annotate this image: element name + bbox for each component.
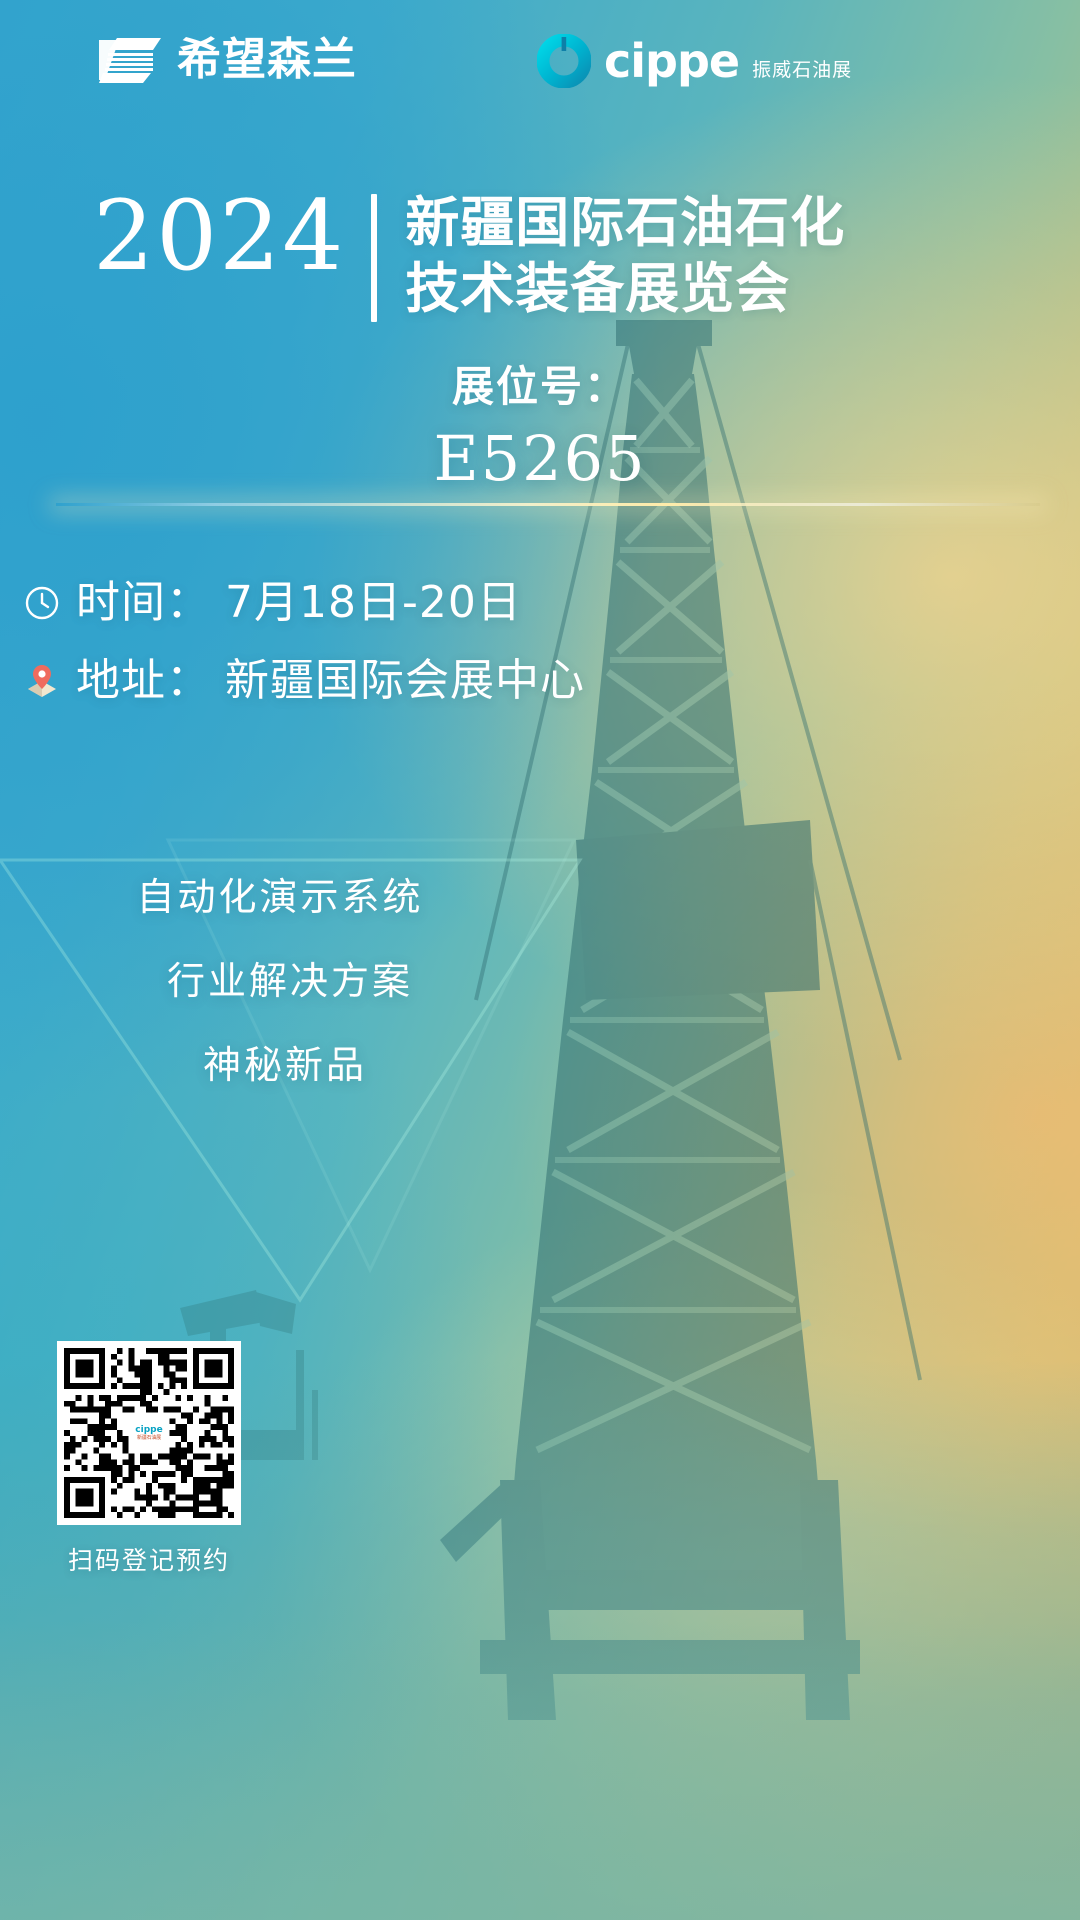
info-row-address: 地址： 新疆国际会展中心 (22, 653, 585, 709)
info-address-value: 新疆国际会展中心 (225, 653, 585, 709)
qr-code[interactable]: cippe 新疆石油展 (57, 1341, 241, 1525)
ground-haze-bottom (0, 1620, 1080, 1920)
event-info-list: 时间： 7月18日-20日 地址： 新疆国际会展中心 (22, 575, 585, 731)
info-time-label: 时间： (76, 575, 211, 631)
event-year: 2024 (93, 186, 345, 286)
qr-section: cippe 新疆石油展 扫码登记预约 (57, 1341, 241, 1577)
booth-number: E5265 (0, 416, 1080, 502)
feature-item-1: 自动化演示系统 (0, 855, 560, 939)
feature-item-2: 行业解决方案 (0, 939, 560, 1023)
cippe-ring-icon (537, 34, 591, 88)
qr-center-logo: cippe 新疆石油展 (132, 1416, 166, 1450)
title-divider-bar (371, 194, 377, 322)
event-title-line-1: 新疆国际石油石化 (405, 190, 845, 256)
poster-canvas: 希望森兰 cippe 振威石油展 (0, 0, 1080, 1920)
poster-header: 希望森兰 cippe 振威石油展 (0, 0, 1080, 130)
brand-logo-senlan: 希望森兰 (97, 36, 357, 84)
event-title: 新疆国际石油石化 技术装备展览会 (405, 186, 845, 322)
cippe-wordmark: cippe (604, 38, 739, 84)
partner-logo-cippe[interactable]: cippe 振威石油展 (537, 34, 852, 88)
cippe-subtitle: 振威石油展 (752, 55, 852, 88)
clock-icon (22, 583, 62, 623)
event-title-line-2: 技术装备展览会 (405, 256, 845, 322)
booth-block: 展位号： E5265 (0, 358, 1080, 502)
qr-center-top: cippe (135, 1425, 162, 1435)
info-row-time: 时间： 7月18日-20日 (22, 575, 585, 631)
booth-label: 展位号： (0, 358, 1080, 416)
glow-divider (56, 503, 1040, 506)
feature-item-3: 神秘新品 (0, 1023, 560, 1107)
brand-name-label: 希望森兰 (177, 38, 357, 82)
info-time-value: 7月18日-20日 (225, 575, 522, 631)
senlan-stripe-mark-icon (97, 36, 163, 84)
info-address-label: 地址： (76, 653, 211, 709)
qr-caption: 扫码登记预约 (57, 1541, 241, 1577)
title-block: 2024 新疆国际石油石化 技术装备展览会 (93, 186, 845, 322)
feature-list: 自动化演示系统 行业解决方案 神秘新品 (0, 855, 560, 1107)
map-pin-icon (22, 661, 62, 701)
qr-center-bottom: 新疆石油展 (137, 1435, 161, 1441)
